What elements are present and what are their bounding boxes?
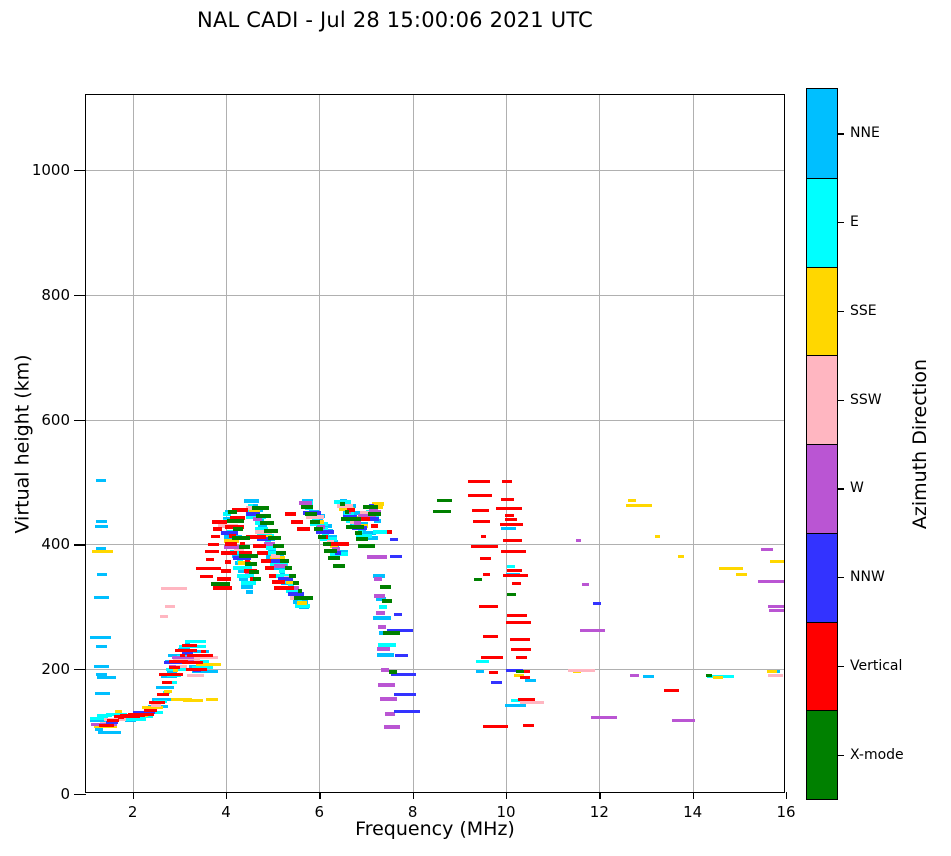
data-point — [483, 635, 498, 638]
data-point — [371, 524, 379, 528]
data-point — [182, 661, 203, 664]
data-point — [516, 656, 527, 659]
data-point — [157, 693, 168, 696]
data-point — [500, 523, 523, 526]
data-point — [94, 596, 108, 599]
data-point — [374, 577, 383, 581]
data-point — [373, 616, 391, 620]
data-point — [383, 631, 400, 635]
data-point — [382, 599, 392, 603]
data-point — [630, 674, 639, 677]
data-point — [293, 581, 299, 585]
data-point — [377, 653, 394, 657]
data-point — [378, 625, 386, 629]
data-point — [380, 697, 397, 701]
data-point — [506, 621, 531, 624]
data-point — [376, 611, 384, 615]
data-point — [232, 536, 250, 540]
data-point — [346, 525, 364, 529]
data-point — [208, 543, 219, 546]
data-point — [205, 550, 218, 553]
data-point — [387, 530, 393, 534]
data-point — [507, 565, 515, 568]
data-point — [241, 581, 257, 585]
data-point — [374, 594, 386, 598]
colorbar-tick — [837, 577, 844, 578]
x-axis-tick — [133, 792, 134, 799]
data-point — [503, 539, 521, 542]
data-point — [161, 587, 187, 590]
data-point — [273, 544, 284, 548]
data-point — [770, 560, 784, 563]
colorbar-segment-vertical[interactable] — [807, 622, 837, 711]
data-point — [507, 569, 522, 572]
data-point — [331, 542, 349, 546]
colorbar[interactable]: NNEESSESSWWNNWVerticalX-mode — [806, 88, 838, 800]
data-point — [576, 539, 581, 542]
data-point — [149, 701, 166, 704]
data-point — [186, 668, 207, 671]
data-point — [672, 719, 694, 722]
y-axis-label: Virtual height (km) — [10, 94, 36, 793]
data-point — [95, 692, 111, 695]
x-axis-tick — [413, 792, 414, 799]
data-point — [298, 589, 302, 593]
data-point — [241, 585, 254, 589]
data-point — [516, 670, 525, 673]
x-axis-tick — [506, 792, 507, 799]
data-point — [501, 550, 526, 553]
data-point — [297, 601, 307, 605]
data-point — [96, 673, 107, 676]
colorbar-label-nne: NNE — [850, 125, 880, 141]
gridline-horizontal — [86, 544, 784, 545]
colorbar-segment-ssw[interactable] — [807, 355, 837, 444]
gridline-vertical — [133, 95, 134, 792]
data-point — [280, 559, 289, 563]
data-point — [491, 681, 501, 684]
data-point — [183, 699, 203, 702]
data-point — [768, 674, 783, 677]
colorbar-tick — [837, 666, 844, 667]
data-point — [706, 674, 712, 677]
gridline-vertical — [226, 95, 227, 792]
data-point — [265, 566, 274, 570]
data-point — [768, 605, 784, 608]
y-axis-tick — [74, 544, 86, 545]
colorbar-label-x-mode: X-mode — [850, 747, 904, 763]
data-point — [373, 530, 387, 534]
data-point — [468, 480, 490, 483]
data-point — [582, 583, 589, 586]
data-point — [96, 645, 107, 648]
data-point — [187, 674, 204, 677]
data-point — [333, 564, 345, 568]
data-point — [289, 574, 296, 578]
data-point — [211, 582, 231, 586]
data-point — [318, 535, 326, 539]
gridline-vertical — [319, 95, 320, 792]
data-point — [379, 605, 387, 609]
y-axis-tick-label: 1000 — [32, 161, 70, 179]
data-point — [253, 544, 266, 548]
data-point — [291, 520, 303, 524]
data-point — [719, 567, 743, 570]
data-point — [264, 529, 278, 533]
data-point — [246, 590, 253, 594]
data-point — [206, 698, 217, 701]
data-point — [301, 505, 313, 509]
data-point — [314, 527, 323, 531]
data-point — [510, 638, 531, 641]
data-point — [261, 559, 271, 563]
data-point — [269, 574, 276, 578]
colorbar-label-nnw: NNW — [850, 569, 885, 585]
data-point — [380, 585, 391, 589]
data-point — [324, 549, 337, 553]
data-point — [769, 609, 784, 612]
x-axis-tick — [319, 792, 320, 799]
data-point — [212, 520, 227, 524]
data-point — [213, 527, 222, 531]
data-point — [162, 681, 172, 684]
data-point — [328, 556, 340, 560]
data-point — [128, 713, 155, 716]
data-points-layer — [86, 95, 784, 792]
colorbar-separator — [807, 267, 837, 268]
colorbar-tick — [837, 488, 844, 489]
colorbar-label-vertical: Vertical — [850, 658, 902, 674]
data-point — [395, 654, 407, 657]
gridline-vertical — [599, 95, 600, 792]
colorbar-label-w: W — [850, 480, 864, 496]
data-point — [394, 613, 402, 616]
x-axis-tick — [786, 792, 787, 799]
y-axis-tick-label: 400 — [41, 535, 70, 553]
data-point — [655, 535, 660, 538]
data-point — [310, 520, 320, 524]
data-point — [96, 520, 106, 523]
y-axis-tick-label: 0 — [60, 785, 70, 803]
gridline-vertical — [506, 95, 507, 792]
gridline-horizontal — [86, 295, 784, 296]
data-point — [98, 731, 121, 734]
data-point — [245, 562, 257, 566]
data-point — [367, 555, 387, 559]
colorbar-tick — [837, 755, 844, 756]
data-point — [272, 580, 285, 584]
data-point — [678, 555, 684, 558]
data-point — [476, 660, 489, 663]
data-point — [160, 615, 168, 618]
data-point — [95, 525, 108, 528]
data-point — [159, 673, 183, 676]
data-point — [390, 538, 398, 541]
colorbar-separator — [807, 710, 837, 711]
data-point — [276, 551, 286, 555]
data-point — [233, 527, 243, 531]
data-point — [511, 648, 531, 651]
data-point — [256, 514, 272, 518]
data-point — [507, 593, 516, 596]
colorbar-segment-w[interactable] — [807, 444, 837, 533]
data-point — [182, 644, 198, 647]
data-point — [305, 512, 316, 516]
data-point — [252, 506, 269, 510]
colorbar-separator — [807, 622, 837, 623]
data-point — [257, 551, 268, 555]
colorbar-separator — [807, 444, 837, 445]
colorbar-label-e: E — [850, 214, 859, 230]
data-point — [626, 504, 652, 507]
data-point — [503, 574, 529, 577]
data-point — [115, 710, 122, 713]
data-point — [340, 502, 345, 506]
data-point — [520, 676, 530, 679]
data-point — [144, 709, 157, 712]
y-axis-tick — [74, 170, 86, 171]
data-point — [433, 510, 451, 513]
data-point — [473, 520, 490, 523]
data-point — [97, 676, 116, 679]
x-axis-label: Frequency (MHz) — [85, 818, 785, 840]
data-point — [213, 586, 232, 590]
data-point — [285, 566, 293, 570]
data-point — [390, 555, 402, 558]
data-point — [736, 573, 747, 576]
data-point — [124, 718, 147, 721]
data-point — [501, 498, 514, 501]
page-title: NAL CADI - Jul 28 15:00:06 2021 UTC — [0, 8, 790, 32]
data-point — [474, 578, 481, 581]
data-point — [520, 701, 544, 704]
colorbar-tick — [837, 222, 844, 223]
data-point — [394, 693, 417, 696]
data-point — [593, 602, 601, 605]
data-point — [180, 654, 185, 657]
data-point — [187, 654, 212, 657]
data-point — [384, 725, 400, 729]
data-point — [468, 494, 491, 497]
data-point — [568, 669, 595, 672]
data-point — [99, 724, 114, 727]
data-point — [507, 614, 527, 617]
y-axis-tick — [74, 669, 86, 670]
data-point — [297, 527, 310, 531]
data-point — [97, 573, 107, 576]
data-point — [253, 577, 261, 581]
y-axis-tick — [74, 295, 86, 296]
data-point — [483, 573, 490, 576]
data-point — [249, 570, 259, 574]
data-point — [713, 676, 723, 679]
colorbar-label-ssw: SSW — [850, 392, 882, 408]
data-point — [268, 536, 280, 540]
data-point — [90, 636, 111, 639]
colorbar-tick — [837, 400, 844, 401]
data-point — [505, 514, 514, 517]
y-axis-tick-label: 600 — [41, 411, 70, 429]
gridline-horizontal — [86, 170, 784, 171]
data-point — [200, 575, 213, 578]
data-point — [96, 479, 106, 482]
data-point — [221, 551, 237, 555]
gridline-vertical — [693, 95, 694, 792]
data-point — [201, 650, 207, 653]
data-point — [664, 689, 679, 692]
data-point — [356, 537, 368, 541]
data-point — [358, 544, 375, 548]
data-point — [260, 521, 275, 525]
colorbar-tick — [837, 133, 844, 134]
data-point — [628, 499, 636, 502]
data-point — [169, 666, 180, 669]
data-point — [244, 499, 258, 503]
data-point — [480, 557, 492, 560]
x-axis-tick — [693, 792, 694, 799]
y-axis-tick — [74, 794, 86, 795]
data-point — [377, 647, 390, 651]
data-point — [643, 675, 654, 678]
data-point — [227, 519, 244, 523]
data-point — [505, 518, 517, 521]
x-axis-tick — [599, 792, 600, 799]
data-point — [363, 505, 378, 509]
data-point — [481, 656, 502, 659]
colorbar-separator — [807, 178, 837, 179]
y-axis-tick — [74, 420, 86, 421]
data-point — [496, 507, 522, 510]
colorbar-segment-nne[interactable] — [807, 89, 837, 178]
gridline-horizontal — [86, 420, 784, 421]
data-point — [355, 531, 362, 535]
colorbar-separator — [807, 533, 837, 534]
colorbar-segment-e[interactable] — [807, 178, 837, 267]
data-point — [502, 480, 512, 483]
data-point — [483, 725, 508, 728]
data-point — [591, 716, 617, 719]
y-axis-tick-label: 200 — [41, 660, 70, 678]
data-point — [518, 698, 534, 701]
data-point — [345, 510, 349, 514]
colorbar-title: Azimuth Direction — [905, 88, 935, 800]
data-point — [285, 512, 296, 516]
colorbar-tick — [837, 311, 844, 312]
colorbar-segment-nnw[interactable] — [807, 533, 837, 622]
data-point — [761, 548, 773, 551]
data-point — [92, 550, 113, 553]
y-axis-tick-label: 800 — [41, 286, 70, 304]
data-point — [217, 577, 232, 581]
data-point — [239, 545, 250, 549]
data-point — [228, 510, 237, 514]
data-point — [472, 509, 489, 512]
x-axis-tick — [226, 792, 227, 799]
data-point — [185, 640, 206, 643]
data-point — [481, 535, 487, 538]
data-point — [512, 582, 521, 585]
data-point — [758, 580, 784, 583]
colorbar-segment-x-mode[interactable] — [807, 710, 837, 799]
data-point — [580, 629, 605, 632]
colorbar-segment-sse[interactable] — [807, 267, 837, 356]
data-point — [394, 710, 421, 713]
data-point — [165, 605, 174, 608]
data-point — [225, 560, 230, 564]
data-point — [523, 724, 533, 727]
data-point — [211, 535, 220, 538]
data-point — [294, 596, 313, 600]
data-point — [225, 542, 237, 546]
data-point — [501, 527, 516, 530]
ionogram-plot-area: 02004006008001000246810121416 — [85, 94, 785, 793]
data-point — [368, 512, 382, 516]
data-point — [206, 558, 214, 561]
data-point — [479, 605, 498, 608]
data-point — [94, 665, 109, 668]
colorbar-label-sse: SSE — [850, 303, 877, 319]
gridline-vertical — [413, 95, 414, 792]
data-point — [323, 542, 331, 546]
data-point — [175, 649, 196, 652]
data-point — [489, 671, 498, 674]
data-point — [341, 517, 360, 521]
data-point — [196, 567, 221, 570]
data-point — [221, 569, 231, 573]
data-point — [389, 670, 397, 674]
colorbar-separator — [807, 355, 837, 356]
data-point — [274, 586, 294, 590]
data-point — [378, 683, 395, 687]
data-point — [437, 499, 452, 502]
data-point — [471, 545, 498, 548]
data-point — [476, 670, 484, 673]
data-point — [767, 670, 776, 673]
data-point — [239, 554, 259, 558]
